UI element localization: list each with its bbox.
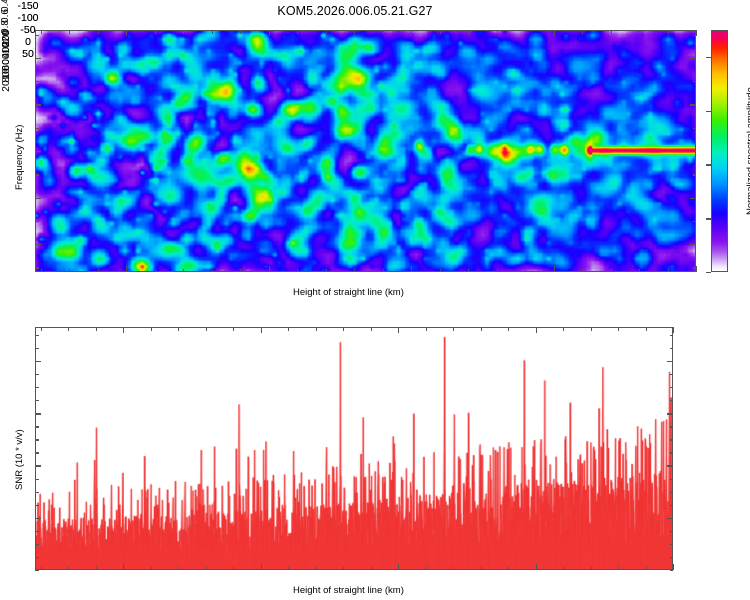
x-tick-minor — [354, 269, 355, 273]
y-tick-major — [667, 518, 673, 519]
y-tick-minor — [35, 492, 39, 493]
y-tick-minor — [670, 374, 674, 375]
y-tick-minor — [693, 128, 697, 129]
x-tick-major — [536, 327, 537, 333]
y-tick-minor — [35, 439, 39, 440]
y-tick-major — [35, 151, 41, 152]
x-tick-minor — [497, 269, 498, 273]
y-tick-minor — [670, 348, 674, 349]
x-tick-minor — [155, 269, 156, 273]
x-tick-minor — [96, 327, 97, 331]
x-tick-major — [554, 266, 555, 272]
x-tick-minor — [178, 567, 179, 571]
y-tick-minor — [670, 544, 674, 545]
x-tick-major — [673, 327, 674, 333]
x-tick-minor — [212, 30, 213, 34]
x-tick-major — [261, 564, 262, 570]
y-tick-major — [667, 465, 673, 466]
x-tick-minor — [440, 30, 441, 34]
y-tick-minor — [670, 557, 674, 558]
colorbar-tick — [706, 57, 711, 58]
x-tick-minor — [297, 269, 298, 273]
y-tick-major — [667, 413, 673, 414]
x-tick-major — [269, 30, 270, 36]
x-tick-minor — [69, 30, 70, 34]
y-tick-major — [35, 198, 41, 199]
x-tick-minor — [582, 30, 583, 34]
snr-x-axis-label: Height of straight line (km) — [293, 585, 404, 596]
y-tick-minor — [35, 335, 39, 336]
y-tick-minor — [35, 426, 39, 427]
spectrogram-plot — [35, 30, 696, 272]
y-tick-minor — [670, 570, 674, 571]
x-tick-minor — [453, 327, 454, 331]
x-tick-minor — [646, 327, 647, 331]
spectrogram-canvas — [36, 31, 695, 271]
x-tick-minor — [440, 269, 441, 273]
x-tick-minor — [591, 327, 592, 331]
x-tick-major — [411, 266, 412, 272]
y-tick-minor — [35, 531, 39, 532]
x-tick-minor — [383, 269, 384, 273]
x-tick-minor — [371, 567, 372, 571]
x-tick-minor — [668, 269, 669, 273]
y-tick-minor — [35, 479, 39, 480]
x-tick-major — [696, 30, 697, 36]
y-tick-minor — [670, 387, 674, 388]
y-tick-minor — [693, 267, 697, 268]
y-tick-major — [35, 413, 41, 414]
x-tick-minor — [497, 30, 498, 34]
x-tick-minor — [206, 327, 207, 331]
x-tick-major — [269, 266, 270, 272]
x-tick-major — [411, 30, 412, 36]
x-tick-minor — [240, 30, 241, 34]
y-tick-major — [667, 361, 673, 362]
y-tick-minor — [670, 400, 674, 401]
colorbar — [711, 30, 728, 272]
x-tick-minor — [563, 567, 564, 571]
x-tick-minor — [618, 327, 619, 331]
snr-y-axis-label: SNR (10 * v/v) — [14, 429, 25, 490]
y-tick-major — [690, 244, 696, 245]
y-tick-minor — [693, 221, 697, 222]
y-tick-minor — [670, 479, 674, 480]
x-tick-minor — [155, 30, 156, 34]
x-tick-minor — [98, 30, 99, 34]
y-tick-minor — [693, 81, 697, 82]
x-tick-minor — [426, 567, 427, 571]
x-tick-minor — [41, 269, 42, 273]
x-tick-minor — [233, 327, 234, 331]
x-tick-major — [554, 30, 555, 36]
y-tick-minor — [693, 174, 697, 175]
x-tick-major — [126, 30, 127, 36]
x-tick-major — [126, 266, 127, 272]
x-tick-minor — [41, 327, 42, 331]
x-tick-minor — [206, 567, 207, 571]
snr-plot — [35, 327, 673, 570]
x-tick-minor — [96, 567, 97, 571]
y-tick-minor — [670, 439, 674, 440]
y-tick-minor — [670, 335, 674, 336]
y-tick-minor — [693, 35, 697, 36]
x-tick-minor — [68, 567, 69, 571]
x-tick-minor — [183, 269, 184, 273]
x-tick-minor — [240, 269, 241, 273]
y-tick-major — [35, 361, 41, 362]
y-tick-minor — [35, 400, 39, 401]
colorbar-title: Normalized spectral amplitude — [745, 87, 750, 215]
y-tick-minor — [35, 348, 39, 349]
x-tick-minor — [481, 327, 482, 331]
x-tick-minor — [591, 567, 592, 571]
x-tick-minor — [343, 327, 344, 331]
y-tick-label: 800 — [0, 52, 12, 96]
y-tick-major — [690, 104, 696, 105]
x-tick-minor — [639, 30, 640, 34]
x-tick-major — [261, 327, 262, 333]
x-tick-minor — [354, 30, 355, 34]
y-tick-major — [690, 58, 696, 59]
x-tick-minor — [668, 30, 669, 34]
x-tick-minor — [383, 30, 384, 34]
x-tick-minor — [233, 567, 234, 571]
page-title: KOM5.2026.006.05.21.G27 — [0, 4, 710, 18]
x-tick-minor — [326, 30, 327, 34]
x-tick-minor — [525, 30, 526, 34]
x-tick-minor — [563, 327, 564, 331]
x-tick-minor — [212, 269, 213, 273]
y-tick-major — [35, 244, 41, 245]
x-tick-minor — [582, 269, 583, 273]
x-tick-minor — [468, 30, 469, 34]
y-tick-minor — [35, 570, 39, 571]
x-tick-minor — [288, 567, 289, 571]
colorbar-tick — [706, 218, 711, 219]
snr-tick-labels: -150-100-50050200400600800 — [0, 0, 56, 108]
y-tick-minor — [35, 452, 39, 453]
x-tick-major — [696, 266, 697, 272]
y-tick-minor — [670, 452, 674, 453]
x-tick-minor — [151, 567, 152, 571]
y-tick-minor — [670, 505, 674, 506]
figure-root: KOM5.2026.006.05.21.G27 -150-100-50050-2… — [0, 0, 750, 600]
colorbar-tick — [706, 272, 711, 273]
y-tick-minor — [35, 374, 39, 375]
y-tick-minor — [670, 492, 674, 493]
x-tick-minor — [69, 269, 70, 273]
y-tick-minor — [35, 505, 39, 506]
x-tick-minor — [371, 327, 372, 331]
y-tick-minor — [35, 174, 39, 175]
x-tick-minor — [183, 30, 184, 34]
y-tick-minor — [670, 531, 674, 532]
y-tick-major — [35, 465, 41, 466]
x-tick-label: -150 — [0, 0, 56, 12]
y-tick-minor — [35, 544, 39, 545]
colorbar-tick — [706, 111, 711, 112]
x-tick-minor — [68, 327, 69, 331]
x-tick-minor — [639, 269, 640, 273]
spectrogram-y-axis-label: Frequency (Hz) — [14, 125, 25, 190]
x-tick-minor — [618, 567, 619, 571]
x-tick-minor — [481, 567, 482, 571]
x-tick-major — [536, 564, 537, 570]
colorbar-tick — [706, 164, 711, 165]
x-tick-minor — [508, 327, 509, 331]
snr-canvas — [36, 328, 672, 569]
x-tick-major — [123, 327, 124, 333]
y-tick-major — [35, 518, 41, 519]
x-tick-major — [398, 327, 399, 333]
x-tick-major — [673, 564, 674, 570]
x-tick-major — [123, 564, 124, 570]
y-tick-minor — [35, 221, 39, 222]
spectrogram-x-axis-label: Height of straight line (km) — [293, 287, 404, 298]
y-tick-minor — [35, 128, 39, 129]
y-tick-minor — [670, 426, 674, 427]
y-tick-minor — [35, 557, 39, 558]
x-tick-minor — [98, 269, 99, 273]
x-tick-minor — [468, 269, 469, 273]
y-tick-minor — [35, 267, 39, 268]
x-tick-minor — [178, 327, 179, 331]
x-tick-minor — [343, 567, 344, 571]
colorbar-gradient — [711, 30, 728, 272]
y-tick-minor — [35, 387, 39, 388]
y-tick-major — [690, 151, 696, 152]
x-tick-minor — [151, 327, 152, 331]
x-tick-minor — [646, 567, 647, 571]
x-tick-minor — [611, 269, 612, 273]
x-tick-minor — [453, 567, 454, 571]
x-tick-minor — [326, 269, 327, 273]
x-tick-minor — [297, 30, 298, 34]
x-tick-minor — [426, 327, 427, 331]
x-tick-major — [398, 564, 399, 570]
y-tick-major — [690, 198, 696, 199]
x-tick-minor — [611, 30, 612, 34]
x-tick-minor — [316, 567, 317, 571]
x-tick-minor — [41, 567, 42, 571]
x-tick-minor — [508, 567, 509, 571]
x-tick-minor — [288, 327, 289, 331]
x-tick-minor — [316, 327, 317, 331]
x-tick-minor — [525, 269, 526, 273]
